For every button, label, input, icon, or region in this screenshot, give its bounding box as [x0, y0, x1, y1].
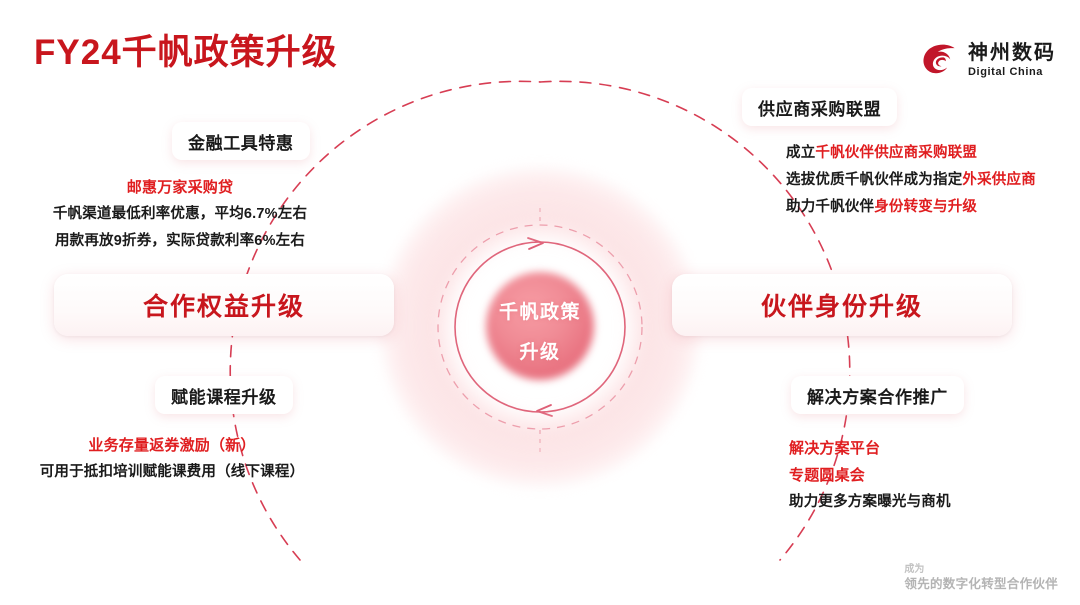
block-financial-tools: 邮惠万家采购贷 千帆渠道最低利率优惠，平均6.7%左右 用款再放9折券，实际贷款… [20, 174, 340, 255]
card-header-financial-tools[interactable]: 金融工具特惠 [172, 122, 310, 160]
slide-canvas: 千帆政策 升级 FY24千帆政策升级 神州数码 Digital China 合作… [0, 0, 1080, 605]
pillar-left-label: 合作权益升级 [143, 287, 305, 323]
card-header-solution-promotion[interactable]: 解决方案合作推广 [791, 376, 964, 414]
block-line: 可用于抵扣培训赋能课费用（线下课程） [12, 459, 332, 486]
footer-line1: 成为 [904, 563, 1058, 577]
block-subtitle: 专题圆桌会 [789, 462, 1039, 489]
center-label-line1: 千帆政策 [466, 293, 614, 333]
block-line: 千帆渠道最低利率优惠，平均6.7%左右 [20, 201, 340, 228]
footer-slogan: 成为 领先的数字化转型合作伙伴 [904, 563, 1058, 593]
block-line: 助力更多方案曝光与商机 [789, 489, 1039, 516]
block-line: 助力千帆伙伴身份转变与升级 [786, 194, 1056, 221]
pillar-right-button[interactable]: 伙伴身份升级 [672, 274, 1012, 336]
block-line: 用款再放9折券，实际贷款利率6%左右 [20, 228, 340, 255]
digital-china-swirl-icon [919, 40, 959, 80]
line-text-black: 助力千帆伙伴 [786, 199, 874, 215]
line-text-red: 身份转变与升级 [874, 199, 977, 215]
card-header-label: 赋能课程升级 [171, 383, 277, 408]
block-line: 选拔优质千帆伙伴成为指定外采供应商 [786, 167, 1056, 194]
logo-text: 神州数码 Digital China [968, 43, 1056, 78]
card-header-label: 解决方案合作推广 [807, 383, 948, 408]
line-text-red: 外采供应商 [962, 172, 1036, 188]
block-subtitle: 邮惠万家采购贷 [20, 174, 340, 201]
footer-line2: 领先的数字化转型合作伙伴 [904, 576, 1058, 593]
block-subtitle: 业务存量返券激励（新） [12, 432, 332, 459]
line-text-red: 千帆伙伴供应商采购联盟 [815, 145, 977, 161]
logo-title-cn: 神州数码 [968, 43, 1056, 63]
pillar-right-label: 伙伴身份升级 [761, 287, 923, 323]
line-text-black: 成立 [786, 145, 815, 161]
card-header-supplier-alliance[interactable]: 供应商采购联盟 [742, 88, 897, 126]
page-title: FY24千帆政策升级 [34, 34, 338, 73]
block-solution-promotion: 解决方案平台 专题圆桌会 助力更多方案曝光与商机 [789, 435, 1039, 516]
block-subtitle: 解决方案平台 [789, 435, 1039, 462]
block-supplier-alliance: 成立千帆伙伴供应商采购联盟 选拔优质千帆伙伴成为指定外采供应商 助力千帆伙伴身份… [786, 140, 1056, 221]
block-line: 成立千帆伙伴供应商采购联盟 [786, 140, 1056, 167]
card-header-label: 供应商采购联盟 [758, 95, 881, 120]
block-course-upgrade: 业务存量返券激励（新） 可用于抵扣培训赋能课费用（线下课程） [12, 432, 332, 486]
center-label-line2: 升级 [466, 333, 614, 373]
card-header-label: 金融工具特惠 [188, 129, 294, 154]
card-header-course-upgrade[interactable]: 赋能课程升级 [155, 376, 293, 414]
center-label: 千帆政策 升级 [466, 293, 614, 373]
logo-title-en: Digital China [968, 67, 1056, 78]
pillar-left-button[interactable]: 合作权益升级 [54, 274, 394, 336]
brand-logo: 神州数码 Digital China [919, 40, 1056, 80]
line-text-black: 选拔优质千帆伙伴成为指定 [786, 172, 962, 188]
